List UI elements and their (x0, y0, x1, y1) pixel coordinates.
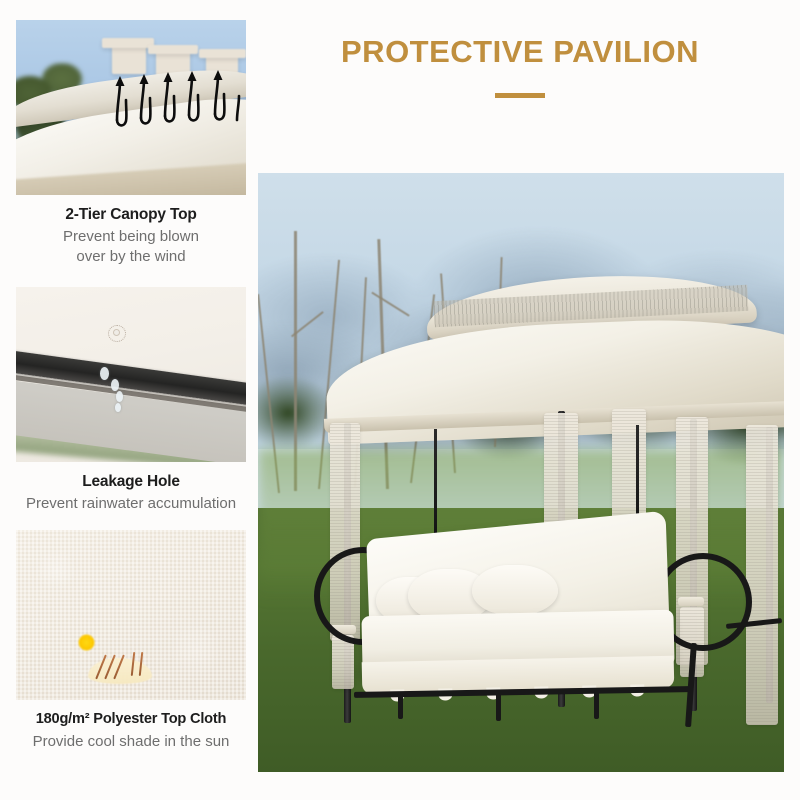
feature-leakage-hole: Leakage Hole Prevent rainwater accumulat… (16, 287, 246, 514)
feature-title: Leakage Hole (16, 472, 246, 491)
leakage-hole-grommet (108, 325, 126, 342)
feature-subtitle-line2: over by the wind (16, 247, 246, 266)
feature-subtitle-line1: Prevent rainwater accumulation (16, 494, 246, 513)
swing-frame-leg (594, 691, 599, 719)
feature-polyester-top-cloth: 180g/m² Polyester Top Cloth Provide cool… (16, 530, 246, 750)
water-drip-icon (116, 391, 123, 402)
leakage-hole-photo (16, 287, 246, 462)
page-title: PROTECTIVE PAVILION (258, 36, 782, 67)
feature-two-tier-canopy-top: 2-Tier Canopy Top Prevent being blown ov… (16, 20, 246, 266)
swing-frame-leg (496, 693, 501, 721)
swing-frame-leg (398, 693, 403, 719)
title-divider (495, 93, 545, 98)
airflow-arrows-icon (16, 20, 246, 195)
feature-subtitle-line1: Provide cool shade in the sun (16, 732, 246, 751)
feature-caption: 180g/m² Polyester Top Cloth Provide cool… (16, 700, 246, 750)
polyester-top-cloth-photo (16, 530, 246, 700)
feature-caption: 2-Tier Canopy Top Prevent being blown ov… (16, 195, 246, 266)
swing-chain (434, 429, 437, 545)
feature-title: 2-Tier Canopy Top (16, 205, 246, 224)
two-tier-canopy-top-photo (16, 20, 246, 195)
infographic-page: 2-Tier Canopy Top Prevent being blown ov… (0, 0, 800, 800)
feature-subtitle-line1: Prevent being blown (16, 227, 246, 246)
feature-column: 2-Tier Canopy Top Prevent being blown ov… (16, 20, 246, 751)
feature-subtitle: Provide cool shade in the sun (16, 732, 246, 751)
swing-pillow (472, 565, 558, 615)
feature-subtitle: Prevent being blown over by the wind (16, 227, 246, 265)
water-drip-icon (111, 379, 119, 391)
water-drip-icon (115, 403, 121, 412)
feature-caption: Leakage Hole Prevent rainwater accumulat… (16, 462, 246, 514)
water-drip-icon (100, 367, 109, 380)
header: PROTECTIVE PAVILION (258, 36, 782, 98)
feature-title: 180g/m² Polyester Top Cloth (16, 710, 246, 728)
feature-subtitle: Prevent rainwater accumulation (16, 494, 246, 513)
mosquito-net-curtain (746, 425, 778, 725)
main-product-photo (258, 173, 784, 772)
